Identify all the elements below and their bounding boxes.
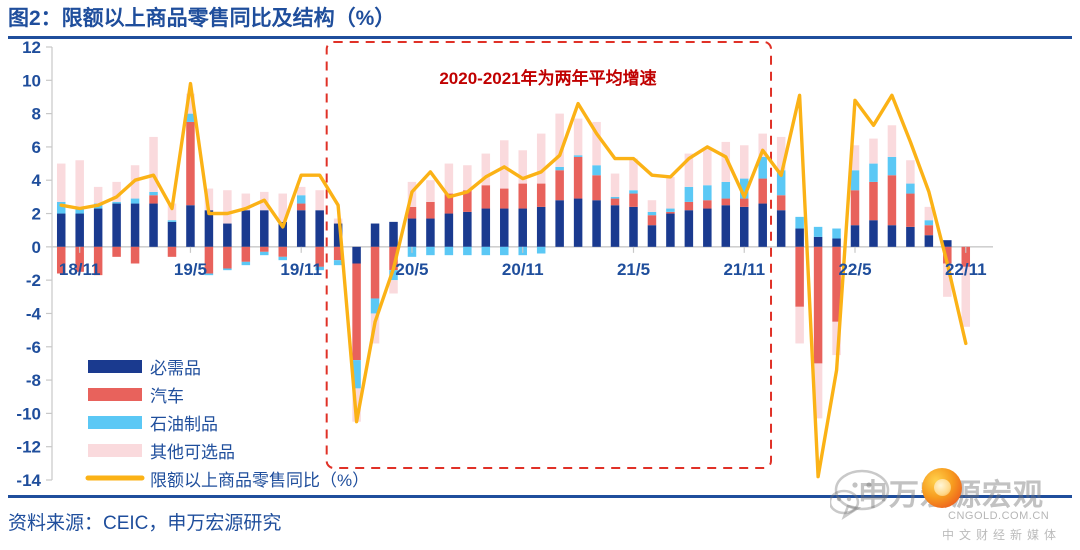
legend-label: 限额以上商品零售同比（%） [150, 471, 369, 488]
bar-segment [906, 227, 915, 247]
bar-segment [758, 204, 767, 247]
y-axis-tick-label: -12 [16, 438, 41, 457]
bar-segment [648, 212, 657, 215]
bar-segment [223, 247, 232, 269]
legend-item: 限额以上商品零售同比（%） [88, 471, 369, 488]
stacked-bar-line-chart: 121086420-2-4-6-8-10-12-1418/1119/519/11… [0, 38, 1080, 488]
bar-segment [814, 237, 823, 247]
watermark-tagline: 中文财经新媒体 [942, 526, 1061, 543]
bar-segment [94, 209, 103, 247]
bar-segment [648, 225, 657, 247]
bar-segment [722, 205, 731, 247]
bar-segment [537, 247, 546, 254]
x-axis-tick-label: 19/11 [280, 260, 322, 279]
bar-segment [149, 204, 158, 247]
bar-segment [168, 222, 177, 247]
bar-segment [611, 197, 620, 199]
bar-segment [703, 200, 712, 208]
legend-swatch [88, 444, 142, 457]
bar-segment [777, 210, 786, 247]
bar-segment [242, 210, 251, 247]
bar-segment [925, 220, 934, 225]
source-note: 资料来源：CEIC，申万宏源研究 [8, 508, 281, 535]
bar-segment [703, 185, 712, 200]
bar-segment [352, 247, 361, 264]
bar-segment [371, 224, 380, 247]
bar-segment [906, 194, 915, 227]
bar-segment [869, 164, 878, 182]
bar-segment [445, 214, 454, 247]
legend-item: 石油制品 [88, 415, 218, 434]
bar-segment [334, 260, 343, 265]
y-axis-tick-label: -2 [26, 271, 41, 290]
bar-segment [112, 247, 121, 257]
bar-segment [186, 122, 195, 205]
bar-segment [795, 229, 804, 247]
bar-segment [500, 189, 509, 209]
bar-segment [297, 204, 306, 211]
bar-segment [925, 225, 934, 235]
x-axis-tick-label: 20/5 [395, 260, 428, 279]
watermark-site: CNGOLD.COM.CN [948, 510, 1049, 522]
bar-segment [352, 264, 361, 361]
bar-segment [94, 187, 103, 204]
y-axis-tick-label: 4 [32, 171, 42, 190]
y-axis-tick-label: -10 [16, 404, 41, 423]
bar-segment [574, 157, 583, 199]
bar-segment [260, 252, 269, 255]
y-axis-tick-label: -8 [26, 371, 41, 390]
bar-segment [112, 204, 121, 247]
bar-segment [426, 180, 435, 202]
x-axis-tick-label: 21/5 [617, 260, 650, 279]
legend-label: 石油制品 [150, 415, 218, 434]
bar-segment [297, 210, 306, 247]
bar-segment [888, 225, 897, 247]
page-title: 图2：限额以上商品零售同比及结构（%） [8, 4, 1072, 34]
y-axis-tick-label: -14 [16, 471, 41, 488]
bar-segment [814, 247, 823, 364]
bar-segment [555, 200, 564, 247]
bar-segment [592, 200, 601, 247]
legend-label: 必需品 [150, 359, 201, 378]
x-axis-tick-label: 19/5 [174, 260, 207, 279]
bar-segment [592, 165, 601, 175]
bar-segment [186, 205, 195, 247]
y-axis-tick-label: -6 [26, 338, 41, 357]
bar-segment [685, 202, 694, 210]
bar-segment [445, 247, 454, 255]
bar-segment [851, 190, 860, 225]
bar-segment [722, 182, 731, 199]
y-axis-tick-label: 10 [22, 71, 41, 90]
bar-segment [149, 192, 158, 195]
chart-plot-area: 121086420-2-4-6-8-10-12-1418/1119/519/11… [0, 38, 1080, 488]
bar-segment [685, 210, 694, 247]
bar-segment [463, 212, 472, 247]
bar-segment [463, 165, 472, 190]
bar-segment [500, 209, 509, 247]
bar-segment [574, 199, 583, 247]
bar-segment [851, 170, 860, 190]
bar-segment [57, 164, 65, 202]
bar-segment [611, 199, 620, 206]
figure-title-bar: 图2：限额以上商品零售同比及结构（%） [8, 4, 1072, 40]
highlight-box-label: 2020-2021年为两年平均增速 [439, 68, 656, 88]
bar-segment [592, 175, 601, 200]
bar-segment [445, 164, 454, 194]
bar-segment [740, 145, 749, 178]
bar-segment [168, 247, 177, 257]
legend-swatch [88, 360, 142, 373]
bar-segment [518, 184, 527, 209]
bar-segment [795, 217, 804, 229]
bar-segment [925, 235, 934, 247]
bar-segment [740, 199, 749, 207]
bar-segment [75, 214, 84, 247]
bar-segment [463, 247, 472, 255]
bar-segment [574, 119, 583, 156]
bar-segment [906, 184, 915, 194]
bar-segment [888, 175, 897, 225]
bar-segment [795, 307, 804, 344]
x-axis-tick-label: 22/5 [838, 260, 871, 279]
bar-segment [648, 200, 657, 212]
x-axis-tick-label: 22/11 [945, 260, 987, 279]
bar-segment [482, 209, 491, 247]
bar-segment [426, 219, 435, 247]
bar-segment [131, 247, 140, 264]
y-axis-tick-label: 2 [32, 205, 41, 224]
bar-segment [666, 212, 675, 214]
bar-segment [518, 209, 527, 247]
y-axis-tick-label: 12 [22, 38, 41, 57]
bar-segment [722, 199, 731, 206]
bar-segment [666, 209, 675, 212]
bar-segment [851, 225, 860, 247]
bar-segment [279, 247, 288, 257]
bar-segment [223, 190, 232, 223]
legend-item: 汽车 [88, 387, 184, 406]
bar-segment [426, 202, 435, 219]
bar-segment [574, 155, 583, 157]
bar-segment [205, 210, 214, 247]
bar-segment [537, 207, 546, 247]
bar-segment [869, 220, 878, 247]
bar-segment [832, 229, 841, 239]
footer-divider [8, 495, 1072, 498]
legend-item: 必需品 [88, 359, 201, 378]
bar-segment [112, 202, 121, 204]
bar-segment [371, 247, 380, 299]
bar-segment [555, 170, 564, 200]
bar-segment [666, 177, 675, 209]
legend-item: 其他可选品 [88, 443, 235, 462]
bar-segment [426, 247, 435, 255]
bar-segment [814, 227, 823, 237]
bar-segment [168, 220, 177, 222]
bar-segment [242, 262, 251, 265]
y-axis-tick-label: 0 [32, 238, 41, 257]
bar-segment [482, 247, 491, 255]
bar-segment [482, 185, 491, 208]
bar-segment [315, 190, 324, 210]
bar-segment [537, 184, 546, 207]
bar-segment [260, 247, 269, 252]
bar-segment [57, 214, 65, 247]
bar-segment [666, 214, 675, 247]
bar-segment [611, 205, 620, 247]
figure-container: 图2：限额以上商品零售同比及结构（%） 121086420-2-4-6-8-10… [0, 0, 1080, 550]
bar-segment [740, 207, 749, 247]
bar-segment [408, 219, 417, 247]
bar-segment [703, 149, 712, 186]
bar-segment [223, 268, 232, 270]
bar-segment [777, 195, 786, 210]
bar-segment [795, 247, 804, 307]
x-axis-tick-label: 20/11 [502, 260, 544, 279]
bar-segment [703, 209, 712, 247]
bar-segment [297, 195, 306, 203]
bar-segment [629, 207, 638, 247]
bar-segment [888, 125, 897, 157]
x-axis-tick-label: 18/11 [59, 260, 101, 279]
bar-segment [500, 140, 509, 188]
bar-segment [131, 204, 140, 247]
bar-segment [648, 215, 657, 225]
bar-segment [537, 134, 546, 184]
y-axis-tick-label: -4 [26, 304, 42, 323]
y-axis-tick-label: 8 [32, 105, 41, 124]
bar-segment [315, 210, 324, 247]
legend-label: 汽车 [150, 387, 184, 406]
bar-segment [611, 174, 620, 197]
bar-segment [223, 224, 232, 247]
bar-segment [131, 199, 140, 204]
bar-segment [906, 160, 915, 183]
bar-segment [758, 179, 767, 204]
bar-segment [832, 239, 841, 247]
bar-segment [555, 167, 564, 170]
bar-segment [869, 182, 878, 220]
bar-segment [149, 195, 158, 203]
y-axis-tick-label: 6 [32, 138, 41, 157]
legend-swatch [88, 416, 142, 429]
bar-segment [75, 160, 84, 207]
legend-swatch [88, 388, 142, 401]
bar-segment [629, 190, 638, 193]
bar-segment [500, 247, 509, 255]
bar-segment [260, 210, 269, 247]
bar-segment [685, 187, 694, 202]
bar-segment [888, 157, 897, 175]
bar-segment [389, 222, 398, 247]
legend-label: 其他可选品 [150, 443, 235, 462]
bar-segment [629, 194, 638, 207]
x-axis-tick-label: 21/11 [723, 260, 765, 279]
bar-segment [242, 247, 251, 262]
bar-segment [869, 139, 878, 164]
